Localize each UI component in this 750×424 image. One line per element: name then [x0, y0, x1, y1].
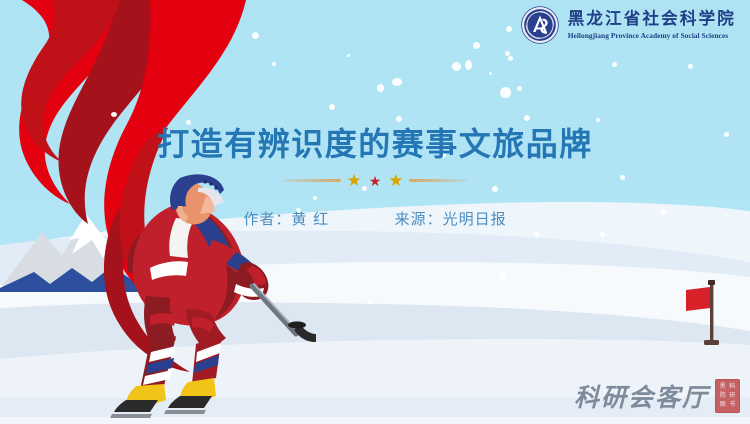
snow-dot: [392, 78, 402, 86]
seal-char: 院: [719, 392, 727, 399]
snow-dot: [465, 60, 472, 70]
snow-dot: [347, 54, 350, 57]
academy-logo: 黑龙江省社会科学院 Heilongjiang Province Academy …: [521, 6, 736, 44]
star-divider: ★ ★ ★: [0, 172, 750, 189]
snow-dot: [600, 232, 605, 237]
seal-char: 黑: [719, 383, 727, 390]
snow-dot: [612, 62, 617, 67]
academy-circular-emblem-icon: [521, 6, 559, 44]
snow-dot: [489, 72, 492, 75]
star-icon-left: ★: [346, 172, 361, 189]
red-seal-stamp-icon: 黑 科 院 研 图 书: [715, 379, 740, 413]
snow-dot: [368, 300, 372, 304]
slide-title: 打造有辨识度的赛事文旅品牌: [0, 119, 750, 165]
watermark: 科研会客厅 黑 科 院 研 图 书: [574, 378, 740, 414]
red-flag-on-pole-icon: [686, 280, 719, 345]
snow-dot: [252, 32, 259, 39]
seal-char: 研: [729, 392, 737, 399]
institution-name-en: Heilongjiang Province Academy of Social …: [568, 32, 736, 39]
divider-rule-right: [409, 179, 467, 182]
snow-dot: [534, 232, 539, 237]
snow-dot: [508, 56, 513, 61]
snow-dot: [329, 104, 335, 110]
snow-dot: [473, 42, 480, 49]
byline-author: 作者：黄 红: [243, 210, 329, 228]
byline-source: 来源：光明日报: [395, 210, 507, 228]
seal-char: 书: [729, 402, 737, 409]
byline: 作者：黄 红 来源：光明日报: [0, 208, 750, 229]
snow-dot: [500, 87, 511, 98]
snow-dot: [506, 26, 512, 32]
star-icon-center: ★: [369, 174, 382, 188]
snow-dot: [377, 84, 384, 92]
seal-char: 图: [719, 402, 727, 409]
snow-dot: [452, 62, 461, 71]
seal-char: 科: [729, 383, 737, 390]
snow-dot: [272, 62, 276, 66]
snow-dot: [500, 272, 507, 279]
snow-dot: [688, 64, 693, 69]
star-icon-right: ★: [388, 172, 403, 189]
institution-name-cn: 黑龙江省社会科学院: [568, 11, 736, 28]
presentation-slide: 黑龙江省社会科学院 Heilongjiang Province Academy …: [0, 0, 750, 424]
watermark-text: 科研会客厅: [574, 378, 709, 414]
snow-dot: [313, 196, 317, 200]
snow-dot: [111, 112, 117, 117]
snow-dot: [517, 86, 522, 91]
divider-rule-left: [283, 179, 341, 182]
